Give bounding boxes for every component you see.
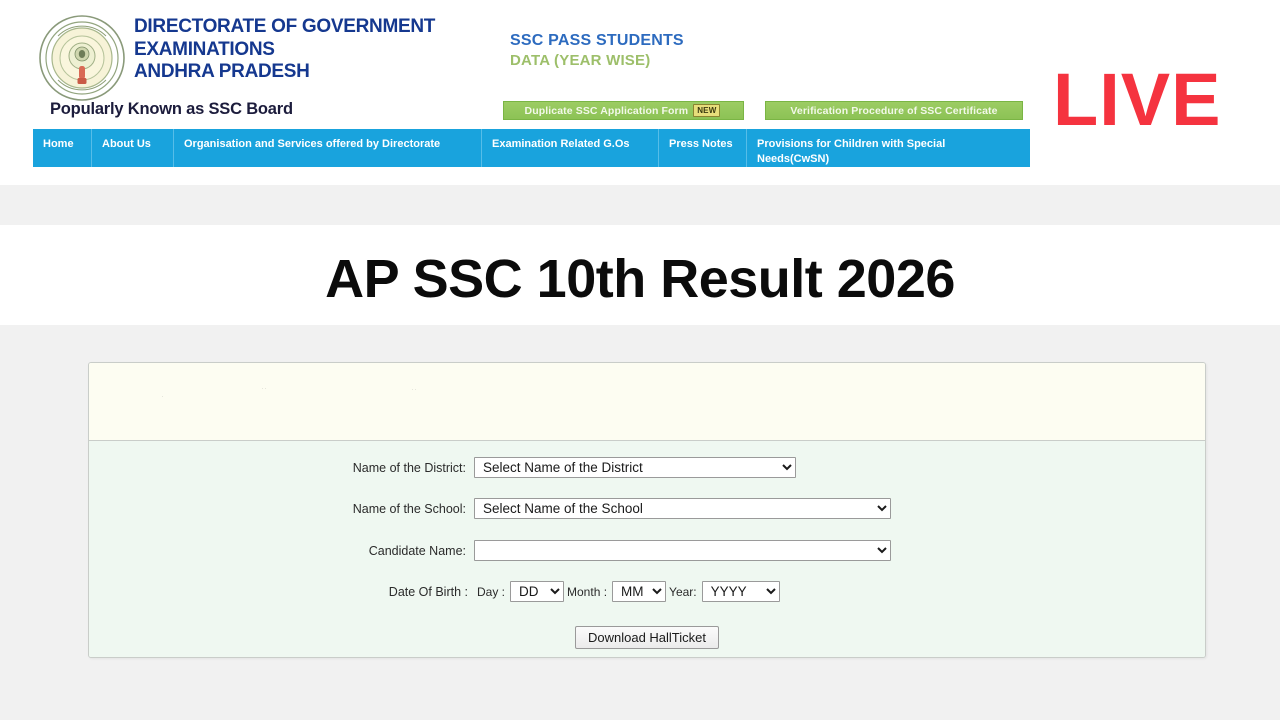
month-label: Month : <box>567 585 607 599</box>
nav-item-organisation-and-services[interactable]: Organisation and Services offered by Dir… <box>173 129 481 167</box>
new-badge: NEW <box>693 104 720 117</box>
district-label: Name of the District: <box>89 461 474 475</box>
faint-artifact-a: · <box>161 391 164 401</box>
duplicate-button-label: Duplicate SSC Application Form <box>525 105 689 117</box>
candidate-label: Candidate Name: <box>89 544 474 558</box>
faint-artifact-c: ·· <box>411 384 417 394</box>
site-header: DIRECTORATE OF GOVERNMENT EXAMINATIONS A… <box>0 0 1280 185</box>
nav-item-press-notes[interactable]: Press Notes <box>658 129 746 167</box>
hallticket-form-card: · ·· ·· Name of the District: Select Nam… <box>88 362 1206 658</box>
verification-procedure-button[interactable]: Verification Procedure of SSC Certificat… <box>765 101 1023 120</box>
background-band-upper <box>0 185 1280 225</box>
live-badge: LIVE <box>1053 62 1221 138</box>
nav-item-cwsn[interactable]: Provisions for Children with Special Nee… <box>746 129 1026 167</box>
form-card-header-strip: · ·· ·· <box>89 363 1205 441</box>
district-row: Name of the District: Select Name of the… <box>89 457 1205 478</box>
organisation-title: DIRECTORATE OF GOVERNMENT EXAMINATIONS A… <box>134 16 464 84</box>
date-of-birth-row: Date Of Birth : Day : DD Month : MM Year… <box>89 581 1205 602</box>
candidate-row: Candidate Name: <box>89 540 1205 561</box>
duplicate-ssc-application-form-button[interactable]: Duplicate SSC Application Form NEW <box>503 101 744 120</box>
page-root: DIRECTORATE OF GOVERNMENT EXAMINATIONS A… <box>0 0 1280 720</box>
school-row: Name of the School: Select Name of the S… <box>89 498 1205 519</box>
org-tagline: Popularly Known as SSC Board <box>50 100 293 119</box>
candidate-name-select[interactable] <box>474 540 891 561</box>
year-select[interactable]: YYYY <box>702 581 780 602</box>
nav-item-home[interactable]: Home <box>33 129 91 167</box>
year-label: Year: <box>669 585 697 599</box>
nav-item-examination-related-gos[interactable]: Examination Related G.Os <box>481 129 658 167</box>
date-of-birth-label: Date Of Birth : <box>89 585 474 599</box>
org-title-line-1: DIRECTORATE OF GOVERNMENT <box>134 16 464 39</box>
download-hallticket-button[interactable]: Download HallTicket <box>575 626 719 649</box>
submit-row: Download HallTicket <box>89 626 1205 649</box>
org-title-line-3: ANDHRA PRADESH <box>134 61 464 84</box>
month-select[interactable]: MM <box>612 581 666 602</box>
day-select[interactable]: DD <box>510 581 564 602</box>
org-title-line-2: EXAMINATIONS <box>134 39 464 62</box>
ssc-pass-line-2: DATA (YEAR WISE) <box>510 51 684 71</box>
main-navigation-bar: Home About Us Organisation and Services … <box>33 129 1030 167</box>
faint-artifact-b: ·· <box>261 383 267 393</box>
ap-government-emblem-icon <box>38 14 126 102</box>
header-panel: DIRECTORATE OF GOVERNMENT EXAMINATIONS A… <box>0 0 1032 182</box>
page-title: AP SSC 10th Result 2026 <box>0 243 1280 315</box>
school-label: Name of the School: <box>89 502 474 516</box>
ssc-pass-line-1: SSC PASS STUDENTS <box>510 31 684 51</box>
form-card-body: Name of the District: Select Name of the… <box>89 442 1205 658</box>
nav-item-about-us[interactable]: About Us <box>91 129 173 167</box>
ssc-pass-students-heading: SSC PASS STUDENTS DATA (YEAR WISE) <box>510 31 684 71</box>
school-select[interactable]: Select Name of the School <box>474 498 891 519</box>
district-select[interactable]: Select Name of the District <box>474 457 796 478</box>
verification-button-label: Verification Procedure of SSC Certificat… <box>790 105 997 117</box>
day-label: Day : <box>477 585 505 599</box>
